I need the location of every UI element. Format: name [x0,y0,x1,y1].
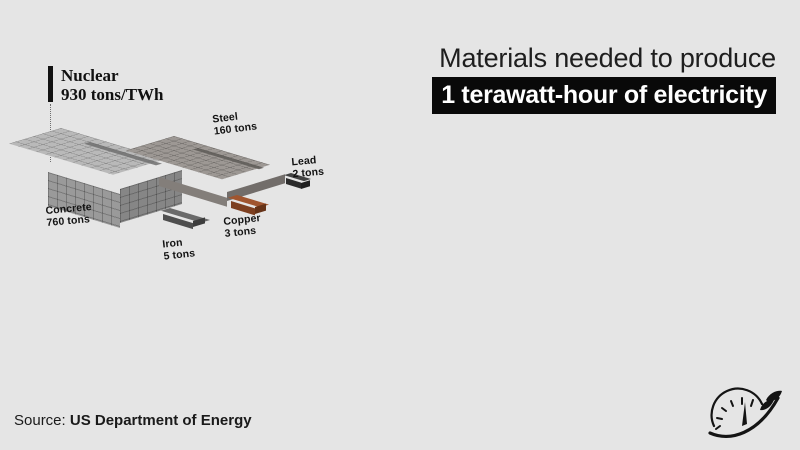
label-copper-value: 3 tons [224,224,262,240]
lead-right-face [301,180,310,189]
title-line-1: Materials needed to produce [352,42,776,74]
infographic-canvas: Materials needed to produce 1 terawatt-h… [0,0,800,450]
nuclear-source-label: Nuclear [61,66,164,85]
accent-bar [48,66,53,102]
label-concrete-value: 760 tons [46,213,93,229]
page-title: Materials needed to produce 1 terawatt-h… [352,42,776,114]
source-credit: Source: US Department of Energy [14,412,252,429]
label-concrete: Concrete 760 tons [45,201,93,229]
label-lead-value: 2 tons [292,166,324,181]
label-iron-value: 5 tons [163,247,196,262]
label-copper: Copper 3 tons [223,212,263,240]
steel-block [152,136,292,194]
source-value: US Department of Energy [70,412,252,429]
label-lead: Lead 2 tons [291,154,325,181]
nuclear-value: 930 tons/TWh [61,85,164,104]
nuclear-callout-text: Nuclear 930 tons/TWh [61,66,164,104]
gauge-leaf-logo [706,382,788,442]
iron-block [160,208,212,230]
label-steel: Steel 160 tons [212,108,258,137]
copper-block [228,195,272,215]
source-label: Source: [14,412,66,429]
nuclear-callout: Nuclear 930 tons/TWh [48,66,164,104]
label-iron: Iron 5 tons [162,235,196,262]
title-banner: 1 terawatt-hour of electricity [432,77,776,114]
